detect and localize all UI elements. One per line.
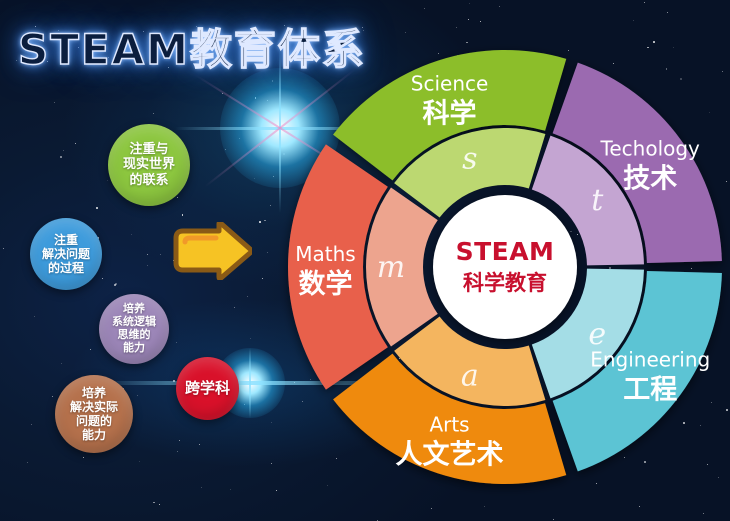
star-dot [499, 6, 500, 7]
star-dot [673, 47, 674, 48]
star-dot [667, 12, 668, 13]
star-dot [225, 149, 226, 150]
star-dot [90, 349, 91, 350]
star-dot [52, 396, 53, 397]
star-dot [267, 252, 268, 253]
star-dot [480, 21, 481, 22]
segment-english-label-engineering: Engineering [590, 348, 710, 372]
star-dot [424, 8, 425, 9]
star-dot [283, 153, 285, 155]
star-dot [61, 363, 62, 364]
star-dot [703, 513, 704, 514]
center-core: STEAM 科学教育 [433, 195, 577, 339]
inner-letter-science: s [462, 142, 477, 177]
bubble-systemic-logic[interactable]: 培养系统逻辑思维的能力 [99, 294, 169, 364]
star-dot [259, 146, 260, 147]
star-dot [115, 283, 117, 285]
star-dot [647, 47, 649, 49]
star-dot [3, 248, 4, 249]
star-dot [139, 461, 140, 462]
segment-english-label-arts: Arts [429, 413, 469, 437]
bubble-interdisciplinary[interactable]: 跨学科 [176, 357, 239, 420]
star-dot [222, 93, 223, 94]
star-dot [270, 205, 271, 206]
star-dot [63, 150, 64, 151]
star-dot [431, 508, 432, 509]
star-dot [644, 2, 645, 3]
star-dot [726, 409, 728, 411]
star-dot [722, 71, 723, 72]
star-dot [466, 42, 468, 44]
inner-letter-maths: m [377, 250, 405, 285]
star-dot [264, 220, 266, 222]
star-dot [201, 487, 202, 488]
star-dot [173, 380, 175, 382]
star-dot [34, 316, 35, 317]
bubble-label: 跨学科 [185, 380, 230, 398]
bubble-practical-problem[interactable]: 培养解决实际问题的能力 [55, 375, 133, 453]
star-dot [159, 504, 160, 505]
star-dot [60, 156, 62, 158]
bubble-real-world[interactable]: 注重与现实世界的联系 [108, 124, 190, 206]
segment-chinese-label-arts: 人文艺术 [396, 439, 504, 471]
inner-letter-technology: t [591, 183, 604, 218]
star-dot [27, 462, 28, 463]
star-dot [114, 284, 116, 286]
segment-chinese-label-maths: 数学 [299, 268, 353, 300]
star-dot [244, 404, 245, 405]
star-dot [469, 3, 470, 4]
star-dot [267, 100, 268, 101]
star-dot [271, 463, 272, 464]
star-dot [327, 485, 328, 486]
segment-chinese-label-engineering: 工程 [623, 375, 677, 406]
star-dot [182, 214, 184, 216]
star-dot [179, 440, 180, 441]
bubble-label: 培养系统逻辑思维的能力 [112, 303, 156, 355]
star-dot [131, 234, 132, 235]
star-dot [75, 143, 76, 144]
star-dot [153, 502, 155, 504]
star-dot [153, 113, 154, 114]
star-dot [16, 60, 17, 61]
star-dot [107, 180, 108, 181]
star-dot [377, 520, 378, 521]
star-dot [255, 97, 257, 99]
bubble-label: 注重解决问题的过程 [42, 233, 90, 275]
star-dot [262, 278, 263, 279]
inner-letter-arts: a [461, 358, 479, 393]
star-dot [176, 342, 178, 344]
right-arrow-icon[interactable] [172, 222, 252, 284]
center-circle [433, 195, 577, 339]
star-dot [247, 296, 248, 297]
star-dot [259, 221, 261, 223]
star-dot [726, 181, 727, 182]
star-dot [252, 372, 253, 373]
segment-english-label-technology: Techology [600, 136, 701, 160]
center-english-label: STEAM [456, 237, 555, 266]
segment-chinese-label-science: 科学 [423, 97, 477, 129]
star-dot [199, 444, 200, 445]
flare-ray [249, 348, 251, 418]
star-dot [239, 138, 240, 139]
segment-english-label-maths: Maths [295, 242, 355, 266]
star-dot [468, 19, 469, 20]
star-dot [273, 176, 274, 177]
star-dot [177, 451, 178, 452]
star-dot [137, 395, 138, 396]
star-dot [147, 254, 148, 255]
star-dot [83, 457, 84, 458]
star-dot [54, 102, 55, 103]
star-dot [177, 197, 178, 198]
star-dot [96, 207, 98, 209]
star-dot [633, 20, 634, 21]
star-dot [553, 519, 554, 520]
steam-wheel: steam Science科学Techology技术Engineering工程A… [288, 50, 722, 484]
star-dot [160, 254, 161, 255]
segment-chinese-label-technology: 技术 [623, 163, 677, 194]
star-dot [31, 424, 32, 425]
star-dot [234, 307, 235, 308]
star-dot [271, 422, 272, 423]
star-dot [639, 506, 640, 507]
star-dot [653, 41, 655, 43]
bubble-label: 注重与现实世界的联系 [123, 142, 175, 188]
segment-english-label-science: Science [411, 71, 489, 95]
star-dot [405, 32, 406, 33]
star-dot [230, 489, 231, 490]
star-dot [102, 278, 103, 279]
bubble-problem-process[interactable]: 注重解决问题的过程 [30, 218, 102, 290]
star-dot [147, 265, 148, 266]
star-dot [276, 490, 277, 491]
steam-education-infographic: STEAM教育体系 注重与现实世界的联系注重解决问题的过程培养系统逻辑思维的能力… [0, 0, 730, 521]
bubble-label: 培养解决实际问题的能力 [70, 386, 118, 443]
center-chinese-label: 科学教育 [463, 271, 547, 295]
star-dot [272, 80, 274, 82]
star-dot [254, 178, 255, 179]
star-dot [250, 338, 251, 339]
star-dot [456, 27, 457, 28]
star-dot [484, 506, 485, 507]
